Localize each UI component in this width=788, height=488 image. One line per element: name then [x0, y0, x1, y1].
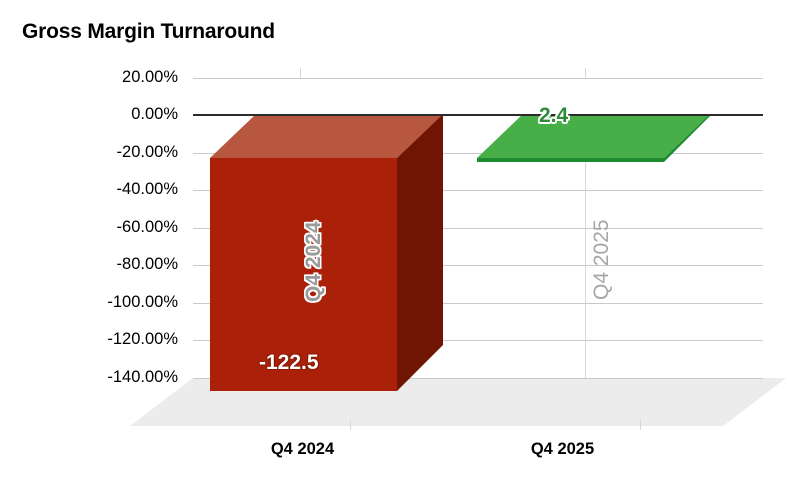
category-divider — [300, 68, 301, 78]
gridline — [193, 78, 763, 79]
zero-line — [193, 114, 763, 116]
y-tick-label: -140.00% — [8, 369, 178, 386]
bar-front-face — [477, 158, 664, 162]
bar-side-face — [397, 114, 443, 391]
data-label-q4-2025: 2.4 — [539, 104, 568, 128]
category-label-q4-2024: Q4 2024 — [195, 440, 410, 459]
bar-top-face — [477, 114, 710, 158]
plot-area: 20.00% 0.00% -20.00% -40.00% -60.00% -80… — [0, 0, 788, 488]
data-label-q4-2024: -122.5 — [259, 351, 319, 375]
y-tick-label: -100.00% — [8, 294, 178, 311]
y-axis-labels: 20.00% 0.00% -20.00% -40.00% -60.00% -80… — [0, 0, 178, 488]
category-divider — [640, 420, 641, 430]
chart-container: Gross Margin Turnaround 20.00% 0.00% -20… — [0, 0, 788, 488]
bar-q4-2025[interactable] — [460, 106, 720, 186]
y-tick-label: -60.00% — [8, 219, 178, 236]
y-tick-label: -120.00% — [8, 331, 178, 348]
y-tick-label: 20.00% — [8, 69, 178, 86]
y-tick-label: -80.00% — [8, 256, 178, 273]
y-tick-label: 0.00% — [8, 106, 178, 123]
series-label-q4-2024: Q4 2024 — [302, 221, 326, 302]
y-tick-label: -20.00% — [8, 144, 178, 161]
category-label-q4-2025: Q4 2025 — [455, 440, 670, 459]
series-label-q4-2025: Q4 2025 — [590, 219, 614, 300]
category-divider — [585, 68, 586, 78]
y-tick-label: -40.00% — [8, 181, 178, 198]
category-divider — [350, 420, 351, 430]
